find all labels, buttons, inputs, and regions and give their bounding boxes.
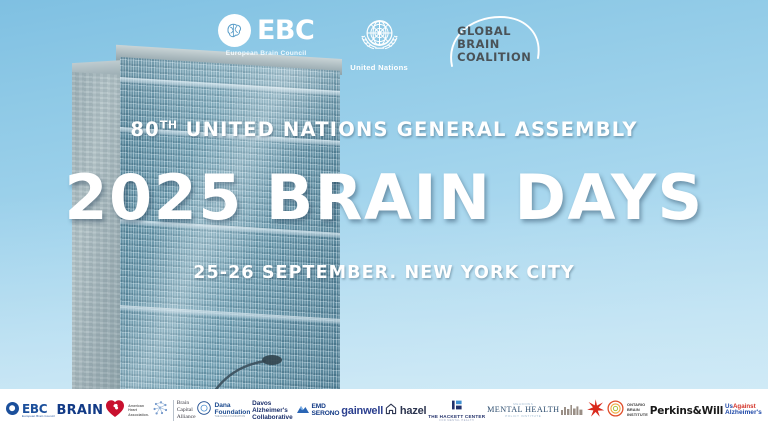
sponsor-caption: THE DANA FOUNDATION	[214, 416, 250, 419]
sponsor-red-star	[585, 396, 605, 426]
gbc-wordmark: GLOBAL BRAIN COALITION	[457, 25, 531, 64]
logo-european-brain-council: EBC European Brain Council	[218, 14, 314, 57]
network-brain-icon	[151, 399, 170, 423]
sponsor-brain-initiative: BRAIN	[57, 396, 104, 426]
kicker-number: 80	[130, 118, 160, 141]
sponsor-the-hackett-center: THE HACKETT CENTER FOR MENTAL HEALTH	[428, 396, 485, 426]
event-date-location: 25-26 SEPTEMBER. NEW YORK CITY	[0, 263, 768, 283]
ebc-caption: European Brain Council	[226, 50, 307, 57]
sponsor-line-2: SERONO	[311, 411, 339, 418]
event-kicker: 80TH UNITED NATIONS GENERAL ASSEMBLY	[0, 118, 768, 141]
sponsor-us-against-alzheimers: UsAgainst Alzheimer's	[725, 396, 762, 426]
un-emblem-icon	[356, 14, 403, 61]
mountain-icon	[296, 402, 310, 420]
sponsor-ontario-brain-institute: ONTARIO BRAIN INSTITUTE	[607, 396, 648, 426]
brain-circle-icon	[218, 14, 251, 47]
dana-brain-icon	[197, 401, 211, 420]
heart-torch-icon	[105, 398, 125, 423]
ebc-acronym: EBC	[257, 17, 314, 44]
gbc-line-1: GLOBAL	[457, 25, 531, 38]
gbc-line-3: COALITION	[457, 51, 531, 64]
sponsor-line-1: Davos	[252, 400, 293, 407]
sponsor-line-1: Brain	[177, 400, 196, 407]
sponsor-line-2: Capital	[177, 407, 196, 414]
sponsor-caption: FOR MENTAL HEALTH	[439, 420, 474, 423]
sponsor-hazel: hazel	[385, 396, 427, 426]
ontario-ring-icon	[607, 400, 624, 422]
gbc-line-2: BRAIN	[457, 38, 531, 51]
sponsor-davos-alzheimers-collaborative: Davos Alzheimer's Collaborative	[252, 396, 310, 426]
hero-section: 80TH UNITED NATIONS GENERAL ASSEMBLY 202…	[0, 118, 768, 283]
skyline-icon	[561, 402, 583, 420]
sponsor-line-3: Collaborative	[252, 414, 293, 421]
sponsor-caption: European Brain Council	[22, 415, 55, 418]
sponsor-european-brain-council: EBC European Brain Council	[6, 396, 55, 426]
sponsor-gainwell: gainwell	[341, 396, 383, 426]
ebc-circle-icon	[6, 402, 19, 420]
sponsor-line-3: Association.	[128, 413, 149, 417]
sponsor-line-1: Dana	[214, 402, 250, 409]
logo-global-brain-coalition: GLOBAL BRAIN COALITION	[444, 14, 550, 68]
hazel-leaf-icon	[385, 402, 397, 420]
sponsor-emd-serono: EMD SERONO	[311, 396, 339, 426]
sponsor-perkins-and-will: Perkins&Will	[650, 396, 723, 426]
sponsor-logo-bar: EBC European Brain Council BRAIN America…	[0, 389, 768, 432]
sponsor-skyline-mark	[561, 396, 583, 426]
sponsor-label: gainwell	[341, 405, 383, 417]
header-logo-row: EBC European Brain Council	[0, 14, 768, 72]
sponsor-meadows-mental-health-policy-institute: MEADOWS MENTAL HEALTH POLICY INSTITUTE	[487, 396, 559, 426]
sponsor-line-2: Alzheimer's	[252, 407, 293, 414]
sponsor-brain-capital-alliance: Brain Capital Alliance	[151, 396, 196, 426]
sponsor-label: Perkins&Will	[650, 405, 723, 417]
logo-united-nations: United Nations	[350, 14, 408, 72]
sponsor-american-heart-association: American Heart Association.	[105, 396, 149, 426]
sponsor-label: hazel	[400, 405, 427, 417]
sponsor-dana-foundation: Dana Foundation THE DANA FOUNDATION	[197, 396, 250, 426]
red-star-icon	[585, 398, 605, 423]
sponsor-line-2: Alzheimer's	[725, 410, 762, 417]
sponsor-line-3: INSTITUTE	[627, 413, 648, 418]
un-caption: United Nations	[350, 63, 408, 72]
sponsor-line-3: Alliance	[177, 414, 196, 421]
kicker-ordinal: TH	[160, 119, 178, 132]
sponsor-caption: POLICY INSTITUTE	[505, 415, 541, 418]
kicker-rest: UNITED NATIONS GENERAL ASSEMBLY	[178, 118, 638, 141]
sponsor-label: BRAIN	[57, 403, 104, 418]
poster-canvas: EBC European Brain Council	[0, 0, 768, 432]
event-title: 2025 BRAIN DAYS	[0, 167, 768, 229]
hackett-mark-icon	[451, 398, 463, 415]
